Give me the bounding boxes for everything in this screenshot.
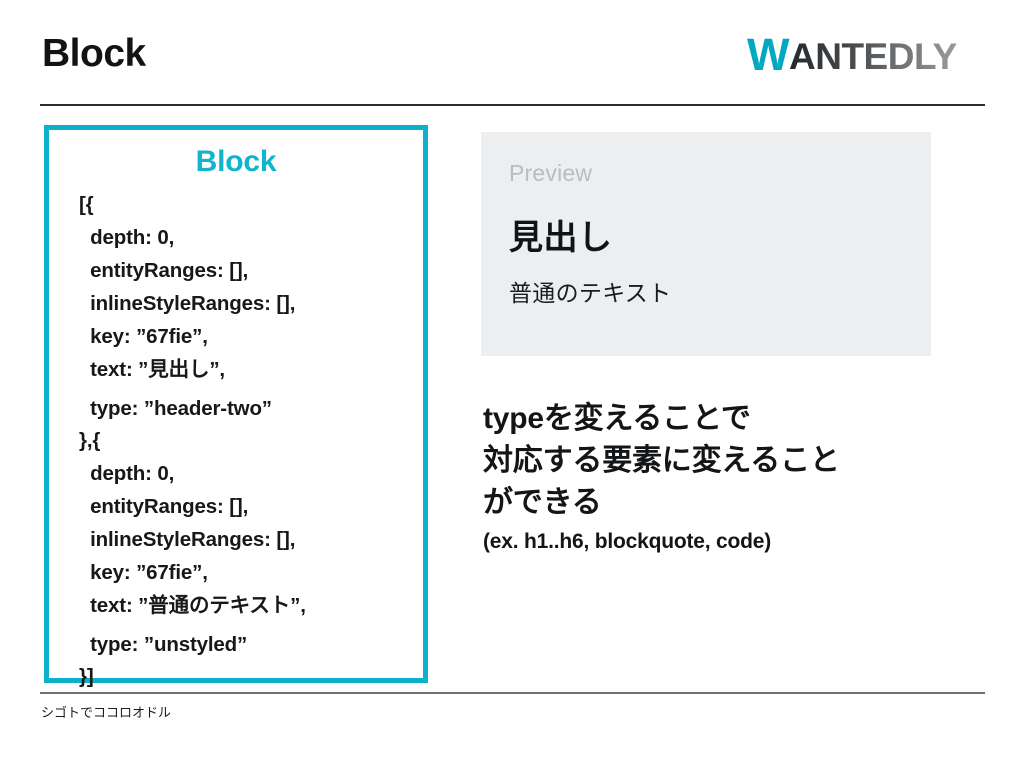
code-line: key: ”67fie”, bbox=[79, 556, 423, 589]
svg-text:ANTEDLY: ANTEDLY bbox=[789, 36, 958, 77]
explanation-block: typeを変えることで対応する要素に変えることができる (ex. h1..h6,… bbox=[483, 398, 953, 553]
wantedly-logo: W ANTEDLY bbox=[747, 36, 985, 78]
code-card: Block [{ depth: 0, entityRanges: [], inl… bbox=[44, 125, 428, 683]
code-line: text: ”見出し”, bbox=[79, 353, 423, 386]
code-listing: [{ depth: 0, entityRanges: [], inlineSty… bbox=[49, 188, 423, 693]
slide-root: Block W ANTEDLY Block [{ depth: 0, entit… bbox=[0, 0, 1024, 768]
code-line: inlineStyleRanges: [], bbox=[79, 523, 423, 556]
code-line: depth: 0, bbox=[79, 221, 423, 254]
header-divider bbox=[40, 104, 985, 106]
code-line: entityRanges: [], bbox=[79, 254, 423, 287]
explanation-note: (ex. h1..h6, blockquote, code) bbox=[483, 530, 953, 553]
code-line: inlineStyleRanges: [], bbox=[79, 287, 423, 320]
code-line: [{ bbox=[79, 188, 423, 221]
code-line: text: ”普通のテキスト”, bbox=[79, 589, 423, 622]
page-title: Block bbox=[42, 34, 146, 73]
wantedly-logo-icon: W ANTEDLY bbox=[747, 36, 985, 78]
preview-body: 普通のテキスト bbox=[509, 282, 671, 305]
preview-heading: 見出し bbox=[509, 221, 613, 255]
code-line: }] bbox=[79, 660, 423, 693]
code-line: type: ”unstyled” bbox=[79, 622, 423, 660]
code-card-title: Block bbox=[49, 147, 423, 177]
footer-divider bbox=[40, 692, 985, 694]
preview-panel: Preview 見出し 普通のテキスト bbox=[481, 132, 931, 356]
code-line: depth: 0, bbox=[79, 457, 423, 490]
svg-text:W: W bbox=[747, 36, 790, 78]
code-line: key: ”67fie”, bbox=[79, 320, 423, 353]
explanation-line: ができる bbox=[483, 482, 953, 524]
code-line: },{ bbox=[79, 424, 423, 457]
explanation-lines: typeを変えることで対応する要素に変えることができる bbox=[483, 398, 953, 524]
preview-label: Preview bbox=[509, 162, 592, 185]
explanation-line: typeを変えることで bbox=[483, 398, 953, 440]
footer-tagline: シゴトでココロオドル bbox=[41, 705, 171, 721]
explanation-line: 対応する要素に変えること bbox=[483, 440, 953, 482]
code-line: type: ”header-two” bbox=[79, 386, 423, 424]
code-line: entityRanges: [], bbox=[79, 490, 423, 523]
